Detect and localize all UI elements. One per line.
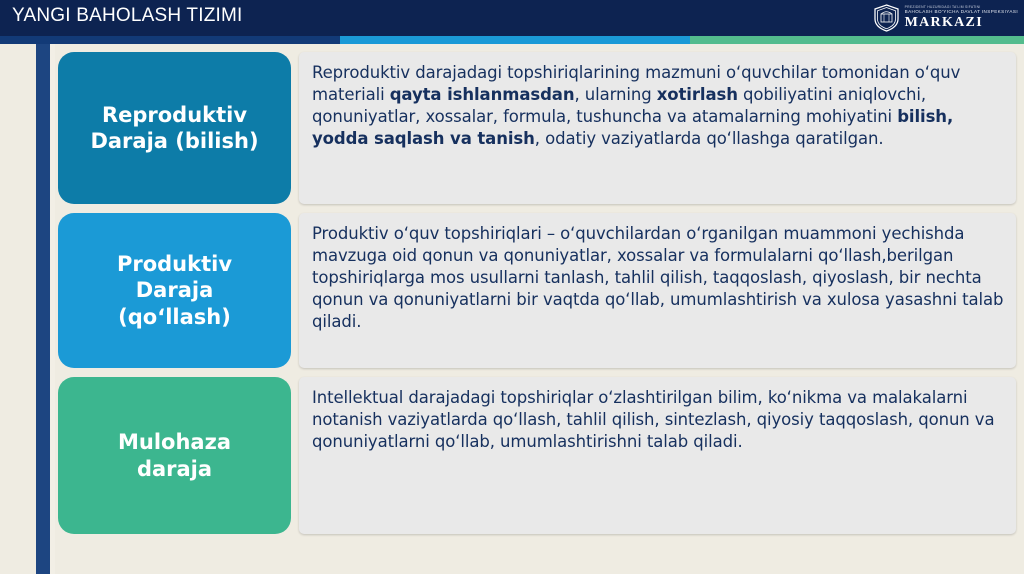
shield-emblem-icon	[873, 4, 900, 32]
accent-segment-navy	[0, 36, 340, 44]
level-row: ReproduktivDaraja (bilish) Reproduktiv d…	[58, 52, 1016, 204]
accent-segment-green	[690, 36, 1024, 44]
level-description-text: Reproduktiv darajadagi topshiriqlarining…	[312, 62, 1004, 150]
page-title: YANGI BAHOLASH TIZIMI	[12, 5, 242, 27]
levels-list: ReproduktivDaraja (bilish) Reproduktiv d…	[58, 52, 1016, 543]
level-description-text: Produktiv o‘quv topshiriqlari – o‘quvchi…	[312, 223, 1004, 333]
level-label-text: Mulohazadaraja	[118, 429, 231, 482]
accent-segment-blue	[340, 36, 690, 44]
organization-logo: PREZIDENT HUZURIDAGI TA'LIM SIFATINI BAH…	[873, 2, 1018, 34]
logo-main-text: MARKAZI	[905, 16, 1018, 30]
level-label-text: ProduktivDaraja(qo‘llash)	[117, 251, 232, 330]
page-header: YANGI BAHOLASH TIZIMI PREZIDENT HUZURIDA…	[0, 0, 1024, 36]
level-description-panel: Intellektual darajadagi topshiriqlar o‘z…	[299, 377, 1016, 534]
level-row: Mulohazadaraja Intellektual darajadagi t…	[58, 377, 1016, 534]
level-label-mulohaza: Mulohazadaraja	[58, 377, 291, 534]
level-row: ProduktivDaraja(qo‘llash) Produktiv o‘qu…	[58, 213, 1016, 368]
level-label-reproduktiv: ReproduktivDaraja (bilish)	[58, 52, 291, 204]
left-rail-light	[50, 44, 55, 574]
accent-strip	[0, 36, 1024, 44]
level-description-text: Intellektual darajadagi topshiriqlar o‘z…	[312, 387, 1004, 453]
level-description-panel: Produktiv o‘quv topshiriqlari – o‘quvchi…	[299, 213, 1016, 368]
logo-wordmark: PREZIDENT HUZURIDAGI TA'LIM SIFATINI BAH…	[905, 6, 1018, 30]
level-label-produktiv: ProduktivDaraja(qo‘llash)	[58, 213, 291, 368]
level-label-text: ReproduktivDaraja (bilish)	[90, 102, 258, 155]
left-rail-dark	[36, 44, 50, 574]
level-description-panel: Reproduktiv darajadagi topshiriqlarining…	[299, 52, 1016, 204]
